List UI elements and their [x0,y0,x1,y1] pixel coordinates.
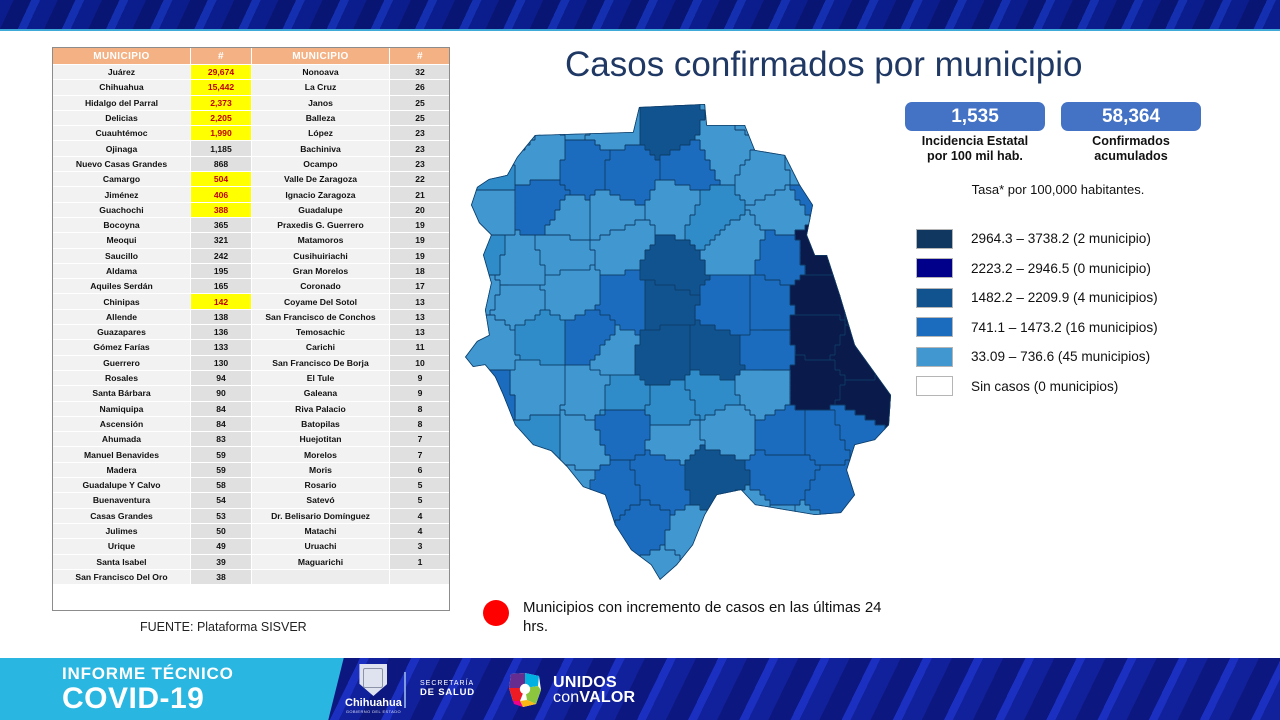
stat-incidencia: 1,535 Incidencia Estatal por 100 mil hab… [905,102,1045,164]
map-municipality [840,545,895,600]
cell-count-left: 195 [191,263,252,278]
map-municipality [790,275,856,321]
footer-banner: INFORME TÉCNICO COVID-19 Chihuahua GOBIE… [0,658,1280,720]
table-row: Juárez29,674Nonoava32 [53,65,451,80]
table-row: Camargo504Valle De Zaragoza22 [53,172,451,187]
cell-count-left: 39 [191,554,252,569]
unidos-valor: VALOR [579,689,635,706]
cell-municipio-left: Santa Bárbara [53,386,191,401]
cell-count-left: 136 [191,325,252,340]
cell-municipio-right: Riva Palacio [252,401,390,416]
cell-municipio-right: Ignacio Zaragoza [252,187,390,202]
cell-count-right: 11 [390,340,451,355]
chihuahua-logo-name: Chihuahua [345,697,402,709]
legend-item: 1482.2 – 2209.9 (4 municipios) [916,283,1158,313]
cell-count-right: 8 [390,401,451,416]
stat-incidencia-label: Incidencia Estatal por 100 mil hab. [905,134,1045,164]
increment-note: Municipios con incremento de casos en la… [483,598,893,636]
cell-municipio-right: San Francisco De Borja [252,355,390,370]
cell-count-left: 504 [191,172,252,187]
cell-count-right: 7 [390,447,451,462]
map-municipality [455,555,506,600]
cell-count-right: 32 [390,65,451,80]
map-svg [455,95,895,600]
cell-municipio-right: Batopilas [252,416,390,431]
cell-municipio-left: Nuevo Casas Grandes [53,156,191,171]
legend-item: 2964.3 – 3738.2 (2 municipio) [916,224,1158,254]
map-municipality [500,450,561,506]
table-row: Manuel Benavides59Morelos7 [53,447,451,462]
cell-municipio-right: La Cruz [252,80,390,95]
cell-count-right: 5 [390,493,451,508]
cell-count-right: 23 [390,156,451,171]
cell-count-left: 1,990 [191,126,252,141]
stat-incidencia-value: 1,535 [905,102,1045,131]
cell-municipio-right [252,569,390,584]
cell-municipio-left: Bocoyna [53,217,191,232]
cell-municipio-right: Gran Morelos [252,263,390,278]
cell-count-left: 84 [191,401,252,416]
cell-municipio-right: Moris [252,462,390,477]
cell-municipio-right: Praxedis G. Guerrero [252,217,390,232]
cell-municipio-right: Cusihuiriachi [252,248,390,263]
cell-municipio-right: Coyame Del Sotol [252,294,390,309]
cell-municipio-right: Balleza [252,110,390,125]
cell-count-right: 13 [390,325,451,340]
top-bar-accent-line [0,29,1280,31]
tasa-note: Tasa* por 100,000 habitantes. [905,182,1211,197]
cell-count-left: 2,373 [191,95,252,110]
cell-count-right: 9 [390,386,451,401]
cell-count-left: 1,185 [191,141,252,156]
cell-count-right: 20 [390,202,451,217]
map-municipality [740,330,796,371]
unidos-state-shape-icon [505,670,545,710]
legend-color-swatch [916,376,953,396]
cell-municipio-left: Camargo [53,172,191,187]
table-row: Bocoyna365Praxedis G. Guerrero19 [53,217,451,232]
table-row: Guazapares136Temosachic13 [53,325,451,340]
table-row: Guerrero130San Francisco De Borja10 [53,355,451,370]
map-municipality [560,550,601,600]
legend-label: 33.09 – 736.6 (45 municipios) [971,349,1150,364]
col-header-count-right: # [390,48,451,65]
cell-municipio-right: Bachiniva [252,141,390,156]
table-row: Cuauhtémoc1,990López23 [53,126,451,141]
legend-color-swatch [916,258,953,278]
cell-count-left: 59 [191,462,252,477]
cell-count-left: 133 [191,340,252,355]
cell-count-right: 13 [390,309,451,324]
increment-note-text: Municipios con incremento de casos en la… [523,598,893,636]
map-municipality [735,540,791,600]
map-municipality [845,275,895,346]
cell-municipio-right: Valle De Zaragoza [252,172,390,187]
cell-municipio-right: San Francisco de Conchos [252,309,390,324]
cell-count-right: 21 [390,187,451,202]
cell-count-left: 58 [191,478,252,493]
stats-row: 1,535 Incidencia Estatal por 100 mil hab… [905,102,1211,164]
municipio-table: MUNICIPIO # MUNICIPIO # Juárez29,674Nono… [52,47,451,585]
legend-label: 1482.2 – 2209.9 (4 municipios) [971,290,1158,305]
map-municipality [455,370,516,431]
unidos-text: UNIDOS conVALOR [553,675,635,705]
cell-municipio-right: Temosachic [252,325,390,340]
unidos-con: con [553,689,579,706]
col-header-municipio-right: MUNICIPIO [252,48,390,65]
stat-confirmados-value: 58,364 [1061,102,1201,131]
cell-count-left: 868 [191,156,252,171]
legend-color-swatch [916,229,953,249]
legend-label: 2964.3 – 3738.2 (2 municipio) [971,231,1151,246]
cell-count-right: 23 [390,141,451,156]
cell-count-right: 4 [390,523,451,538]
cell-municipio-left: Hidalgo del Parral [53,95,191,110]
cell-municipio-left: Saucillo [53,248,191,263]
legend-color-swatch [916,317,953,337]
cell-municipio-right: Carichi [252,340,390,355]
table-row: Allende138San Francisco de Conchos13 [53,309,451,324]
cell-count-right: 7 [390,432,451,447]
cell-count-left: 59 [191,447,252,462]
map-municipality [455,470,506,521]
cell-municipio-left: Juárez [53,65,191,80]
map-municipality [800,95,846,146]
cell-municipio-left: Casas Grandes [53,508,191,523]
cell-municipio-left: Delicias [53,110,191,125]
cell-count-left: 388 [191,202,252,217]
cell-count-left: 49 [191,539,252,554]
cell-count-left: 142 [191,294,252,309]
cell-municipio-right: Rosario [252,478,390,493]
stat-confirmados-label-line1: Confirmados [1061,134,1201,149]
cell-count-right: 23 [390,126,451,141]
legend-label: Sin casos (0 municipios) [971,379,1118,394]
cell-count-left: 94 [191,370,252,385]
table-row: Casas Grandes53Dr. Belisario Domínguez4 [53,508,451,523]
cell-count-right: 13 [390,294,451,309]
table-row: Guadalupe Y Calvo58Rosario5 [53,478,451,493]
cell-municipio-right: Guadalupe [252,202,390,217]
map-municipality [840,135,895,196]
cell-municipio-left: Namiquipa [53,401,191,416]
cell-count-right: 6 [390,462,451,477]
cell-count-left: 54 [191,493,252,508]
table-row: Aquiles Serdán165Coronado17 [53,279,451,294]
slide-root: MUNICIPIO # MUNICIPIO # Juárez29,674Nono… [0,0,1280,720]
cell-count-right: 9 [390,370,451,385]
table-row: Chinipas142Coyame Del Sotol13 [53,294,451,309]
cell-municipio-left: Chihuahua [53,80,191,95]
cell-count-left: 90 [191,386,252,401]
stat-confirmados-label-line2: acumulados [1061,149,1201,164]
cell-municipio-left: Aldama [53,263,191,278]
cell-municipio-left: Guazapares [53,325,191,340]
chihuahua-government-logo: Chihuahua GOBIERNO DEL ESTADO [345,664,402,714]
cell-count-left: 242 [191,248,252,263]
shield-icon [359,664,387,696]
map-municipality [835,225,895,286]
chihuahua-choropleth-map [455,95,895,600]
map-municipality [695,545,746,600]
table-row: Jiménez406Ignacio Zaragoza21 [53,187,451,202]
table-row: Buenaventura54Satevó5 [53,493,451,508]
cell-municipio-right: López [252,126,390,141]
cell-municipio-left: Ascensión [53,416,191,431]
salud-line2: DE SALUD [420,687,475,698]
stat-incidencia-label-line2: por 100 mil hab. [905,149,1045,164]
cell-count-right [390,569,451,584]
cell-count-left: 84 [191,416,252,431]
cell-count-right: 19 [390,233,451,248]
cell-count-left: 365 [191,217,252,232]
table-row: Nuevo Casas Grandes868Ocampo23 [53,156,451,171]
cell-count-right: 1 [390,554,451,569]
legend-item: 741.1 – 1473.2 (16 municipios) [916,313,1158,343]
legend-item: 2223.2 – 2946.5 (0 municipio) [916,254,1158,284]
cell-count-left: 165 [191,279,252,294]
table-row: Ahumada83Huejotitan7 [53,432,451,447]
footer-divider [404,672,406,708]
cell-municipio-left: Manuel Benavides [53,447,191,462]
cell-municipio-right: Satevó [252,493,390,508]
cell-municipio-right: Maguarichi [252,554,390,569]
cell-count-left: 53 [191,508,252,523]
red-dot-icon [483,600,509,626]
map-municipality [855,435,895,506]
cell-municipio-right: Matachi [252,523,390,538]
cell-municipio-left: Rosales [53,370,191,385]
cell-count-right: 19 [390,248,451,263]
cell-municipio-left: Jiménez [53,187,191,202]
cell-municipio-right: Galeana [252,386,390,401]
cell-municipio-right: Nonoava [252,65,390,80]
table-row: Chihuahua15,442La Cruz26 [53,80,451,95]
map-municipality [510,360,566,421]
informe-line2: COVID-19 [62,683,234,714]
cell-municipio-left: Ahumada [53,432,191,447]
table-row: Saucillo242Cusihuiriachi19 [53,248,451,263]
stat-confirmados: 58,364 Confirmados acumulados [1061,102,1201,164]
municipio-table-container: MUNICIPIO # MUNICIPIO # Juárez29,674Nono… [52,47,450,585]
informe-tecnico-logo: INFORME TÉCNICO COVID-19 [62,664,234,714]
cell-count-left: 130 [191,355,252,370]
legend-item: Sin casos (0 municipios) [916,372,1158,402]
cell-municipio-right: Huejotitan [252,432,390,447]
table-row: Guachochi388Guadalupe20 [53,202,451,217]
table-row: Delicias2,205Balleza25 [53,110,451,125]
cell-count-left: 15,442 [191,80,252,95]
cell-municipio-left: Julimes [53,523,191,538]
page-title: Casos confirmados por municipio [565,45,1082,85]
table-row: Gómez Farías133Carichi11 [53,340,451,355]
cell-count-left: 38 [191,569,252,584]
cell-municipio-right: El Tule [252,370,390,385]
table-row: Urique49Uruachi3 [53,539,451,554]
cell-municipio-left: Urique [53,539,191,554]
cell-count-left: 2,205 [191,110,252,125]
legend-label: 741.1 – 1473.2 (16 municipios) [971,320,1158,335]
cell-count-right: 10 [390,355,451,370]
map-municipality [505,415,561,466]
cell-municipio-left: Ojinaga [53,141,191,156]
cell-count-right: 18 [390,263,451,278]
cell-count-right: 26 [390,80,451,95]
cell-municipio-left: Aquiles Serdán [53,279,191,294]
cell-count-right: 25 [390,95,451,110]
legend-color-swatch [916,288,953,308]
table-row: Ojinaga1,185Bachiniva23 [53,141,451,156]
cell-count-right: 25 [390,110,451,125]
cell-municipio-right: Coronado [252,279,390,294]
unidos-con-valor-logo: UNIDOS conVALOR [505,670,635,710]
stat-confirmados-label: Confirmados acumulados [1061,134,1201,164]
map-municipality [755,95,806,146]
table-row: Santa Isabel39Maguarichi1 [53,554,451,569]
map-municipality [785,550,846,600]
secretaria-de-salud-logo: SECRETARÍA DE SALUD [420,680,475,698]
cell-municipio-right: Uruachi [252,539,390,554]
cell-count-left: 138 [191,309,252,324]
cell-municipio-right: Matamoros [252,233,390,248]
cell-municipio-left: Madera [53,462,191,477]
table-header-row: MUNICIPIO # MUNICIPIO # [53,48,451,65]
cell-municipio-left: Allende [53,309,191,324]
cell-municipio-left: Meoqui [53,233,191,248]
table-row: Santa Bárbara90Galeana9 [53,386,451,401]
cell-municipio-left: Cuauhtémoc [53,126,191,141]
cell-count-right: 3 [390,539,451,554]
cell-count-left: 29,674 [191,65,252,80]
unidos-line1: UNIDOS [553,675,635,690]
increment-note-line1: Municipios con incremento de casos en la… [523,599,809,616]
legend-item: 33.09 – 736.6 (45 municipios) [916,342,1158,372]
cell-municipio-right: Dr. Belisario Domínguez [252,508,390,523]
table-row: Aldama195Gran Morelos18 [53,263,451,278]
col-header-count-left: # [191,48,252,65]
map-municipality [505,550,561,600]
map-municipality [850,505,895,566]
table-body: Juárez29,674Nonoava32Chihuahua15,442La C… [53,65,451,585]
map-legend: 2964.3 – 3738.2 (2 municipio)2223.2 – 29… [916,224,1158,401]
map-municipality [455,230,506,276]
table-row: Hidalgo del Parral2,373Janos25 [53,95,451,110]
stat-incidencia-label-line1: Incidencia Estatal [905,134,1045,149]
source-note: FUENTE: Plataforma SISVER [140,620,307,634]
map-municipality [835,95,895,151]
table-row: Namiquipa84Riva Palacio8 [53,401,451,416]
salud-line1: SECRETARÍA [420,680,475,687]
cell-count-right: 19 [390,217,451,232]
legend-label: 2223.2 – 2946.5 (0 municipio) [971,261,1151,276]
table-row: Meoqui321Matamoros19 [53,233,451,248]
map-municipality [835,185,895,246]
table-row: Ascensión84Batopilas8 [53,416,451,431]
map-municipality [530,500,601,556]
cell-count-right: 8 [390,416,451,431]
map-municipality [455,95,506,151]
cell-count-left: 406 [191,187,252,202]
cell-municipio-right: Morelos [252,447,390,462]
cell-municipio-right: Ocampo [252,156,390,171]
cell-municipio-left: San Francisco Del Oro [53,569,191,584]
table-row: Madera59Moris6 [53,462,451,477]
map-municipality [495,500,546,571]
col-header-municipio-left: MUNICIPIO [53,48,191,65]
top-decorative-bar [0,0,1280,29]
page-title-light: municipio [935,45,1083,84]
table-row: Rosales94El Tule9 [53,370,451,385]
cell-count-right: 17 [390,279,451,294]
cell-count-right: 5 [390,478,451,493]
map-municipality [455,415,506,471]
cell-count-right: 22 [390,172,451,187]
map-municipality [455,150,516,191]
table-row: San Francisco Del Oro38 [53,569,451,584]
cell-municipio-left: Gómez Farías [53,340,191,355]
chihuahua-logo-sub: GOBIERNO DEL ESTADO [345,709,402,714]
legend-color-swatch [916,347,953,367]
cell-municipio-left: Buenaventura [53,493,191,508]
cell-count-right: 4 [390,508,451,523]
cell-municipio-right: Janos [252,95,390,110]
informe-line1: INFORME TÉCNICO [62,664,234,683]
unidos-line2: conVALOR [553,690,635,705]
cell-count-left: 83 [191,432,252,447]
map-municipality [455,510,506,571]
table-row: Julimes50Matachi4 [53,523,451,538]
cell-municipio-left: Guerrero [53,355,191,370]
cell-count-left: 50 [191,523,252,538]
cell-municipio-left: Santa Isabel [53,554,191,569]
map-municipality [635,325,691,386]
map-municipality [510,125,566,186]
cell-count-left: 321 [191,233,252,248]
page-title-main: Casos confirmados por [565,45,935,84]
cell-municipio-left: Guachochi [53,202,191,217]
cell-municipio-left: Chinipas [53,294,191,309]
map-municipality [785,140,846,186]
cell-municipio-left: Guadalupe Y Calvo [53,478,191,493]
map-municipality [760,505,801,566]
